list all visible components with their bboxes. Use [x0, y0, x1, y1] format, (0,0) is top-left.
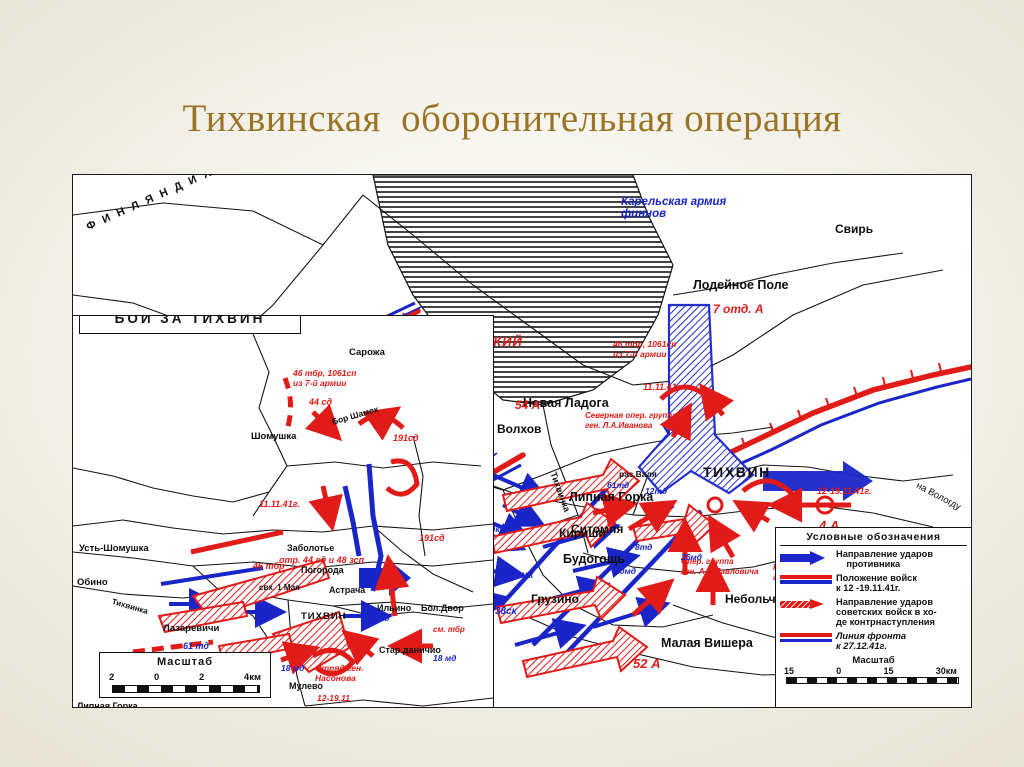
inset-unit-otr44sd: отр. 44 сд и 48 зсп [279, 556, 364, 565]
army-54: 54 А [515, 399, 540, 411]
unit-8td-main: 8тд [635, 543, 652, 552]
unit-20md: 20мд [615, 567, 636, 576]
city-volkhov: Волхов [497, 423, 541, 435]
inset-place-ilyino: Ильино [377, 604, 411, 613]
legend-scale-tick-3: 30км [936, 666, 957, 676]
note-46tbr-1061sp: 46 тбр, 1061сп из 7-й армии [613, 340, 676, 360]
page-title: Тихвинская оборонительная операция [0, 96, 1024, 141]
legend-scale-tick-2: 15 [884, 666, 894, 676]
label-finland: Ф И Н Л Я Н Д И Я [85, 174, 215, 233]
label-volkhov-river: Тихвинка [549, 471, 572, 513]
legend-text-troop-position: Положение войск к 12 -19.11.41г. [836, 573, 917, 594]
inset-place-pogoroda: Погорода [301, 566, 344, 575]
inset-place-lazarevichi: Лазаревичи [163, 624, 219, 634]
inset-map-tikhvin-battles[interactable]: БОИ ЗА ТИХВИН [73, 315, 494, 708]
legend-entry-enemy-attack: Направление ударов противника [780, 549, 967, 570]
red-arrow-icon [780, 597, 832, 610]
inset-unit-smtbr: см. тбр [433, 626, 465, 634]
legend-scale-bar-graphic [786, 677, 959, 684]
inset-scale-tick-0: 2 [109, 672, 114, 683]
inset-unit-18md-b: 18 мд [281, 664, 304, 673]
inset-place-sarozha: Сарожа [349, 348, 385, 358]
inset-place-tikhvin: ТИХВИН [301, 612, 347, 622]
inset-unit-191sd: 191сд [393, 434, 419, 443]
inset-place-lipnaya-gorka: Липная Горка [77, 702, 138, 708]
unit-39mk: 39 мк [507, 571, 533, 581]
legend-scale-bar: Масштаб 15 0 15 30км [780, 655, 967, 684]
legend-scale-tick-1: 0 [836, 666, 841, 676]
legend-entry-troop-position: Положение войск к 12 -19.11.41г. [780, 573, 967, 594]
city-kirishi: Кириши [559, 527, 606, 539]
unit-61td-main: 61тд [607, 481, 629, 490]
inset-scale-tick-3: 4км [244, 672, 261, 683]
inset-scale-tick-2: 2 [199, 672, 204, 683]
inset-scale-bar: Масштаб 2 0 2 4км [99, 652, 271, 698]
legend-title: Условные обозначения [780, 531, 967, 546]
city-lipnaya-gorka: Липная Горка [569, 491, 653, 504]
army-7-separate: 7 отд. А [713, 303, 764, 315]
inset-place-obino: Обино [77, 578, 108, 588]
label-raz-valya: раз.Валя [619, 470, 657, 479]
note-north-group: Северная опер. группа ген. Л.А.Иванова [585, 411, 677, 430]
legend-text-enemy-attack: Направление ударов противника [836, 549, 933, 570]
city-lodeynoye-pole: Лодейное Поле [693, 279, 788, 292]
inset-scale-bar-graphic [112, 685, 260, 693]
inset-unit-61td: 61 тд [183, 642, 209, 651]
legend-text-soviet-attack: Направление ударов советских войск в хо-… [836, 597, 937, 628]
city-gruzino: Грузино [531, 593, 579, 605]
unit-38sk: 38ск [495, 607, 517, 617]
inset-unit-46tbr-1061sp: 46 тбр, 1061сп из 7-й армии [293, 368, 356, 388]
inset-unit-44sd: 44 сд [309, 398, 332, 407]
inset-unit-191sd-b: 191сд [419, 534, 445, 543]
unit-12td-main: 12тд [645, 487, 667, 496]
inset-unit-otryad: Отряд ген. Насонова [315, 664, 364, 684]
legend-entry-front-line: Линия фронта к 27.12.41г. [780, 631, 967, 652]
inset-unit-18md: 18 мд [433, 654, 456, 663]
inset-unit-dates: 12-19.11 [317, 694, 350, 703]
city-malaya-vishera: Малая Вишера [661, 637, 753, 650]
note-date-121941: 12-19.11.41г. [817, 487, 872, 496]
inset-place-shomushka: Шомушка [251, 432, 296, 442]
city-tikhvin: ТИХВИН [703, 465, 771, 479]
inset-scale-tick-1: 0 [154, 672, 159, 683]
label-svir-river: Свирь [835, 223, 873, 235]
inset-place-bol-dvor: Бол.Двор [421, 604, 464, 613]
front-karelian-army: Карельская армия финнов [621, 197, 726, 220]
slide-root: Тихвинская оборонительная операция [0, 0, 1024, 767]
inset-place-astracha: Астрача [329, 586, 365, 595]
map-figure[interactable]: Ф И Н Л Я Н Д И Я Ладожское озеро Фински… [72, 174, 972, 708]
blue-arrow-icon [780, 549, 832, 564]
army-52: 52 А [633, 657, 660, 670]
inset-unit-12td: 12 тд [365, 614, 390, 623]
legend-scale-tick-0: 15 [784, 666, 794, 676]
unit-26md: 26мд [681, 553, 702, 562]
inset-place-staroye-danichno: Стар.даничио [379, 646, 441, 655]
inset-scale-caption: Масштаб [100, 656, 270, 668]
inset-place-ust-shomushka: Усть-Шомушка [79, 544, 149, 554]
city-budogoshch: Будогощь [563, 553, 625, 566]
unit-65sd: 65сд [709, 529, 730, 538]
note-to-vologda: на Вологду [915, 481, 963, 512]
front-line-icon [780, 631, 832, 644]
legend-text-front-line: Линия фронта к 27.12.41г. [836, 631, 906, 652]
inset-place-sovkhoz-1-maya: свх. 1 Мая [259, 584, 300, 592]
legend-entry-soviet-attack: Направление ударов советских войск в хо-… [780, 597, 967, 628]
note-date-111141-north: 11.11.41 [643, 383, 677, 392]
inset-place-zabolotye: Заболотье [287, 544, 334, 553]
red-blue-bar-icon [780, 573, 832, 584]
legend-box[interactable]: Условные обозначения Направление ударов … [775, 527, 971, 707]
legend-scale-caption: Масштаб [780, 655, 967, 666]
inset-unit-date: 11.11.41г. [259, 500, 300, 509]
